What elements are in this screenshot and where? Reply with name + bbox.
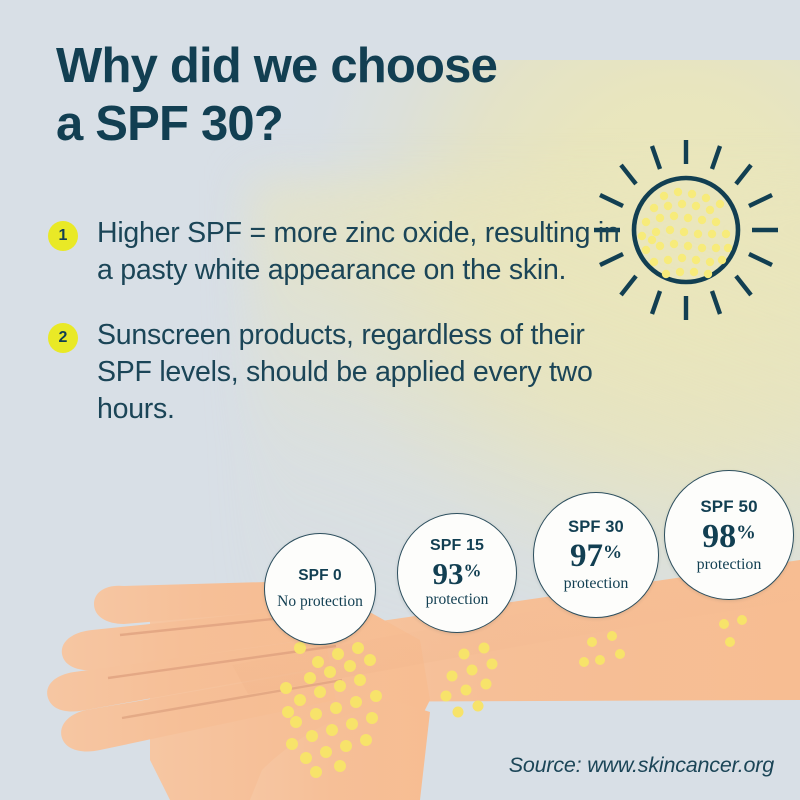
- infographic-poster: Why did we choose a SPF 30? 1 Higher SPF…: [0, 0, 800, 800]
- spf-bubble-50-number: 98: [702, 518, 736, 555]
- spf-bubble-15-value: 93%: [433, 558, 482, 589]
- spf-bubble-15-sub: protection: [426, 591, 489, 608]
- spf-bubble-30-number: 97: [570, 538, 603, 574]
- spf-bubble-0-label: SPF 0: [298, 567, 342, 585]
- percent-symbol: %: [736, 521, 756, 543]
- spf-bubble-0-sub: No protection: [277, 593, 363, 610]
- spf-bubble-15: SPF 15 93% protection: [397, 513, 517, 633]
- spf-bubble-30-value: 97%: [570, 540, 622, 573]
- spf-bubble-30-label: SPF 30: [568, 518, 624, 537]
- spf-bubble-50: SPF 50 98% protection: [664, 470, 794, 600]
- percent-symbol: %: [603, 542, 622, 563]
- spf-bubble-50-value: 98%: [702, 520, 756, 554]
- spf-bubble-50-sub: protection: [697, 556, 762, 574]
- spf-bubble-30-sub: protection: [564, 575, 629, 593]
- spf-bubble-15-label: SPF 15: [430, 537, 484, 555]
- spf-bubble-15-number: 93: [433, 556, 464, 591]
- percent-symbol: %: [464, 561, 482, 581]
- spf-bubble-group: SPF 0 No protection SPF 15 93% protectio…: [0, 0, 800, 800]
- spf-bubble-50-label: SPF 50: [700, 497, 757, 517]
- spf-bubble-0: SPF 0 No protection: [264, 533, 376, 645]
- spf-bubble-30: SPF 30 97% protection: [533, 492, 659, 618]
- source-attribution: Source: www.skincancer.org: [509, 753, 774, 778]
